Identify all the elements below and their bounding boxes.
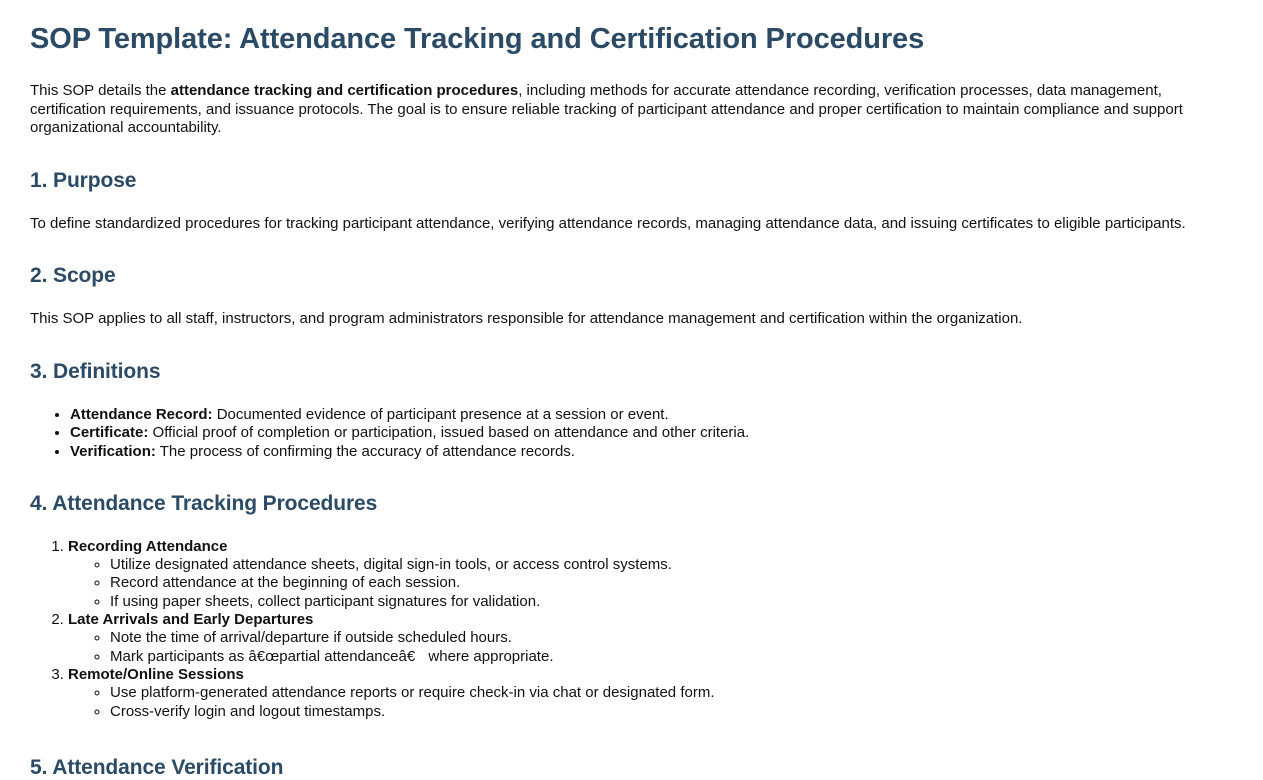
page-title: SOP Template: Attendance Tracking and Ce… xyxy=(30,22,1233,56)
section-heading-attendance-verification: 5. Attendance Verification xyxy=(30,755,1233,780)
list-item: Utilize designated attendance sheets, di… xyxy=(110,556,1233,574)
intro-bold-phrase: attendance tracking and certification pr… xyxy=(171,82,519,99)
section-paragraph-purpose: To define standardized procedures for tr… xyxy=(30,215,1233,234)
section-tracking-procedures: 4. Attendance Tracking Procedures Record… xyxy=(30,491,1233,721)
section-heading-scope: 2. Scope xyxy=(30,263,1233,288)
list-item: Certificate: Official proof of completio… xyxy=(70,424,1233,442)
list-item: Use platform-generated attendance report… xyxy=(110,684,1233,702)
section-purpose: 1. Purpose To define standardized proced… xyxy=(30,168,1233,234)
intro-paragraph: This SOP details the attendance tracking… xyxy=(30,82,1210,138)
procedures-list: Recording Attendance Utilize designated … xyxy=(30,538,1233,721)
section-attendance-verification: 5. Attendance Verification xyxy=(30,755,1233,780)
list-item: Verification: The process of confirming … xyxy=(70,443,1233,461)
intro-text: This SOP details the attendance tracking… xyxy=(30,82,1210,138)
procedure-step-title: Remote/Online Sessions xyxy=(68,666,244,683)
definition-term: Attendance Record: xyxy=(70,406,213,423)
definition-text: The process of confirming the accuracy o… xyxy=(156,443,575,460)
procedure-substeps: Utilize designated attendance sheets, di… xyxy=(68,556,1233,611)
list-item: Recording Attendance Utilize designated … xyxy=(68,538,1233,611)
list-item: Attendance Record: Documented evidence o… xyxy=(70,406,1233,424)
definitions-list: Attendance Record: Documented evidence o… xyxy=(30,406,1233,461)
definition-text: Official proof of completion or particip… xyxy=(148,424,749,441)
definition-text: Documented evidence of participant prese… xyxy=(213,406,669,423)
list-item: Late Arrivals and Early Departures Note … xyxy=(68,611,1233,666)
document-page: SOP Template: Attendance Tracking and Ce… xyxy=(0,0,1263,780)
section-paragraph-scope: This SOP applies to all staff, instructo… xyxy=(30,310,1233,329)
definition-term: Verification: xyxy=(70,443,156,460)
procedure-step-title: Recording Attendance xyxy=(68,538,227,555)
procedure-step-title: Late Arrivals and Early Departures xyxy=(68,611,313,628)
section-definitions: 3. Definitions Attendance Record: Docume… xyxy=(30,359,1233,461)
section-scope: 2. Scope This SOP applies to all staff, … xyxy=(30,263,1233,329)
procedure-substeps: Note the time of arrival/departure if ou… xyxy=(68,629,1233,666)
list-item: Note the time of arrival/departure if ou… xyxy=(110,629,1233,647)
section-heading-definitions: 3. Definitions xyxy=(30,359,1233,384)
list-item: Record attendance at the beginning of ea… xyxy=(110,574,1233,592)
definition-term: Certificate: xyxy=(70,424,148,441)
list-item: Cross-verify login and logout timestamps… xyxy=(110,703,1233,721)
section-heading-purpose: 1. Purpose xyxy=(30,168,1233,193)
list-item: Remote/Online Sessions Use platform-gene… xyxy=(68,666,1233,721)
intro-before-bold: This SOP details the xyxy=(30,82,171,99)
list-item: If using paper sheets, collect participa… xyxy=(110,593,1233,611)
procedure-substeps: Use platform-generated attendance report… xyxy=(68,684,1233,721)
section-heading-tracking-procedures: 4. Attendance Tracking Procedures xyxy=(30,491,1233,516)
list-item: Mark participants as â€œpartial attendan… xyxy=(110,648,1233,666)
